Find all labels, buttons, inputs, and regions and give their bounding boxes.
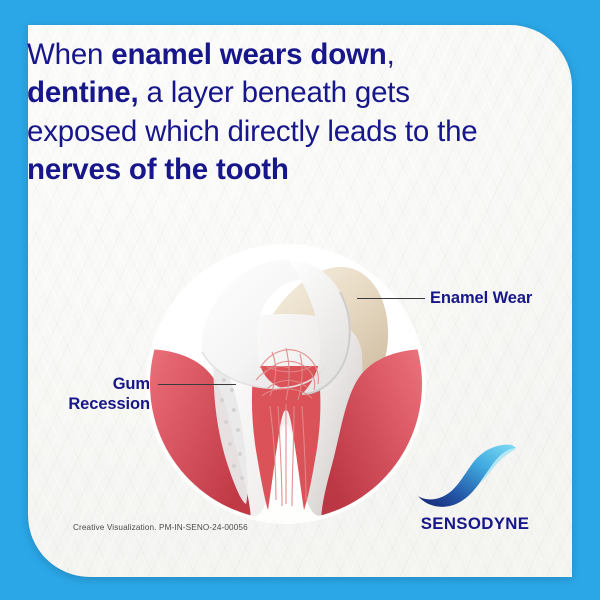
swoosh-shape	[418, 445, 516, 507]
page-title: When enamel wears down, dentine, a layer…	[27, 36, 497, 189]
brand-wordmark: SENSODYNE	[416, 514, 534, 534]
enamel-wear-leader-line	[357, 298, 425, 299]
disclaimer-text: Creative Visualization. PM-IN-SENO-24-00…	[73, 523, 248, 532]
headline-run-3: ,	[387, 38, 395, 71]
callout-gum-recession: Gum Recession	[48, 374, 150, 414]
sensodyne-swoosh-icon	[416, 440, 534, 512]
headline-run-1: When	[27, 38, 111, 71]
callout-enamel-wear: Enamel Wear	[430, 288, 532, 308]
headline-run-2: enamel wears down	[111, 38, 386, 71]
headline-run-6: nerves of the tooth	[27, 153, 289, 186]
poster-canvas: When enamel wears down, dentine, a layer…	[0, 0, 600, 600]
brand-logo: SENSODYNE	[416, 440, 534, 540]
gum-recession-leader-line	[158, 384, 236, 385]
headline-run-4: dentine,	[27, 76, 139, 109]
